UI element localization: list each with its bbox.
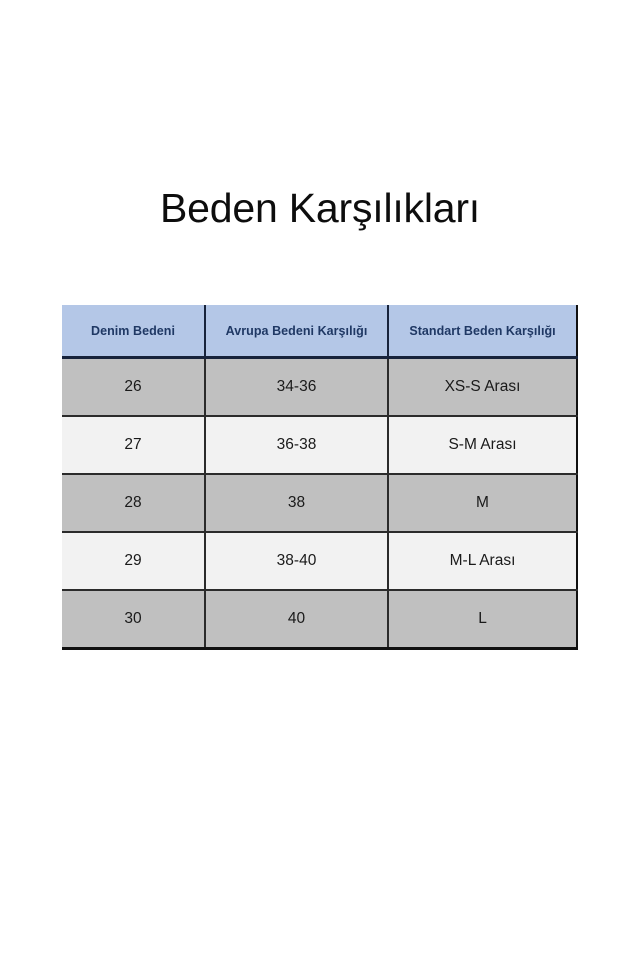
cell-avrupa: 40 bbox=[205, 590, 388, 649]
size-table-container: Denim Bedeni Avrupa Bedeni Karşılığı Sta… bbox=[62, 305, 577, 650]
column-header-denim: Denim Bedeni bbox=[62, 305, 205, 358]
size-chart-page: Beden Karşılıkları Denim Bedeni Avrupa B… bbox=[0, 0, 640, 960]
page-title: Beden Karşılıkları bbox=[0, 182, 640, 234]
cell-standart: M bbox=[388, 474, 577, 532]
table-row: 29 38-40 M-L Arası bbox=[62, 532, 577, 590]
column-header-avrupa: Avrupa Bedeni Karşılığı bbox=[205, 305, 388, 358]
table-row: 26 34-36 XS-S Arası bbox=[62, 358, 577, 417]
cell-avrupa: 34-36 bbox=[205, 358, 388, 417]
size-conversion-table: Denim Bedeni Avrupa Bedeni Karşılığı Sta… bbox=[62, 305, 578, 650]
cell-denim: 28 bbox=[62, 474, 205, 532]
cell-standart: S-M Arası bbox=[388, 416, 577, 474]
table-body: 26 34-36 XS-S Arası 27 36-38 S-M Arası 2… bbox=[62, 358, 577, 649]
cell-denim: 29 bbox=[62, 532, 205, 590]
cell-standart: L bbox=[388, 590, 577, 649]
cell-standart: XS-S Arası bbox=[388, 358, 577, 417]
cell-avrupa: 38-40 bbox=[205, 532, 388, 590]
column-header-standart: Standart Beden Karşılığı bbox=[388, 305, 577, 358]
cell-avrupa: 38 bbox=[205, 474, 388, 532]
cell-standart: M-L Arası bbox=[388, 532, 577, 590]
cell-denim: 26 bbox=[62, 358, 205, 417]
table-row: 28 38 M bbox=[62, 474, 577, 532]
cell-denim: 27 bbox=[62, 416, 205, 474]
cell-denim: 30 bbox=[62, 590, 205, 649]
table-header-row: Denim Bedeni Avrupa Bedeni Karşılığı Sta… bbox=[62, 305, 577, 358]
table-header: Denim Bedeni Avrupa Bedeni Karşılığı Sta… bbox=[62, 305, 577, 358]
table-row: 27 36-38 S-M Arası bbox=[62, 416, 577, 474]
table-row: 30 40 L bbox=[62, 590, 577, 649]
cell-avrupa: 36-38 bbox=[205, 416, 388, 474]
